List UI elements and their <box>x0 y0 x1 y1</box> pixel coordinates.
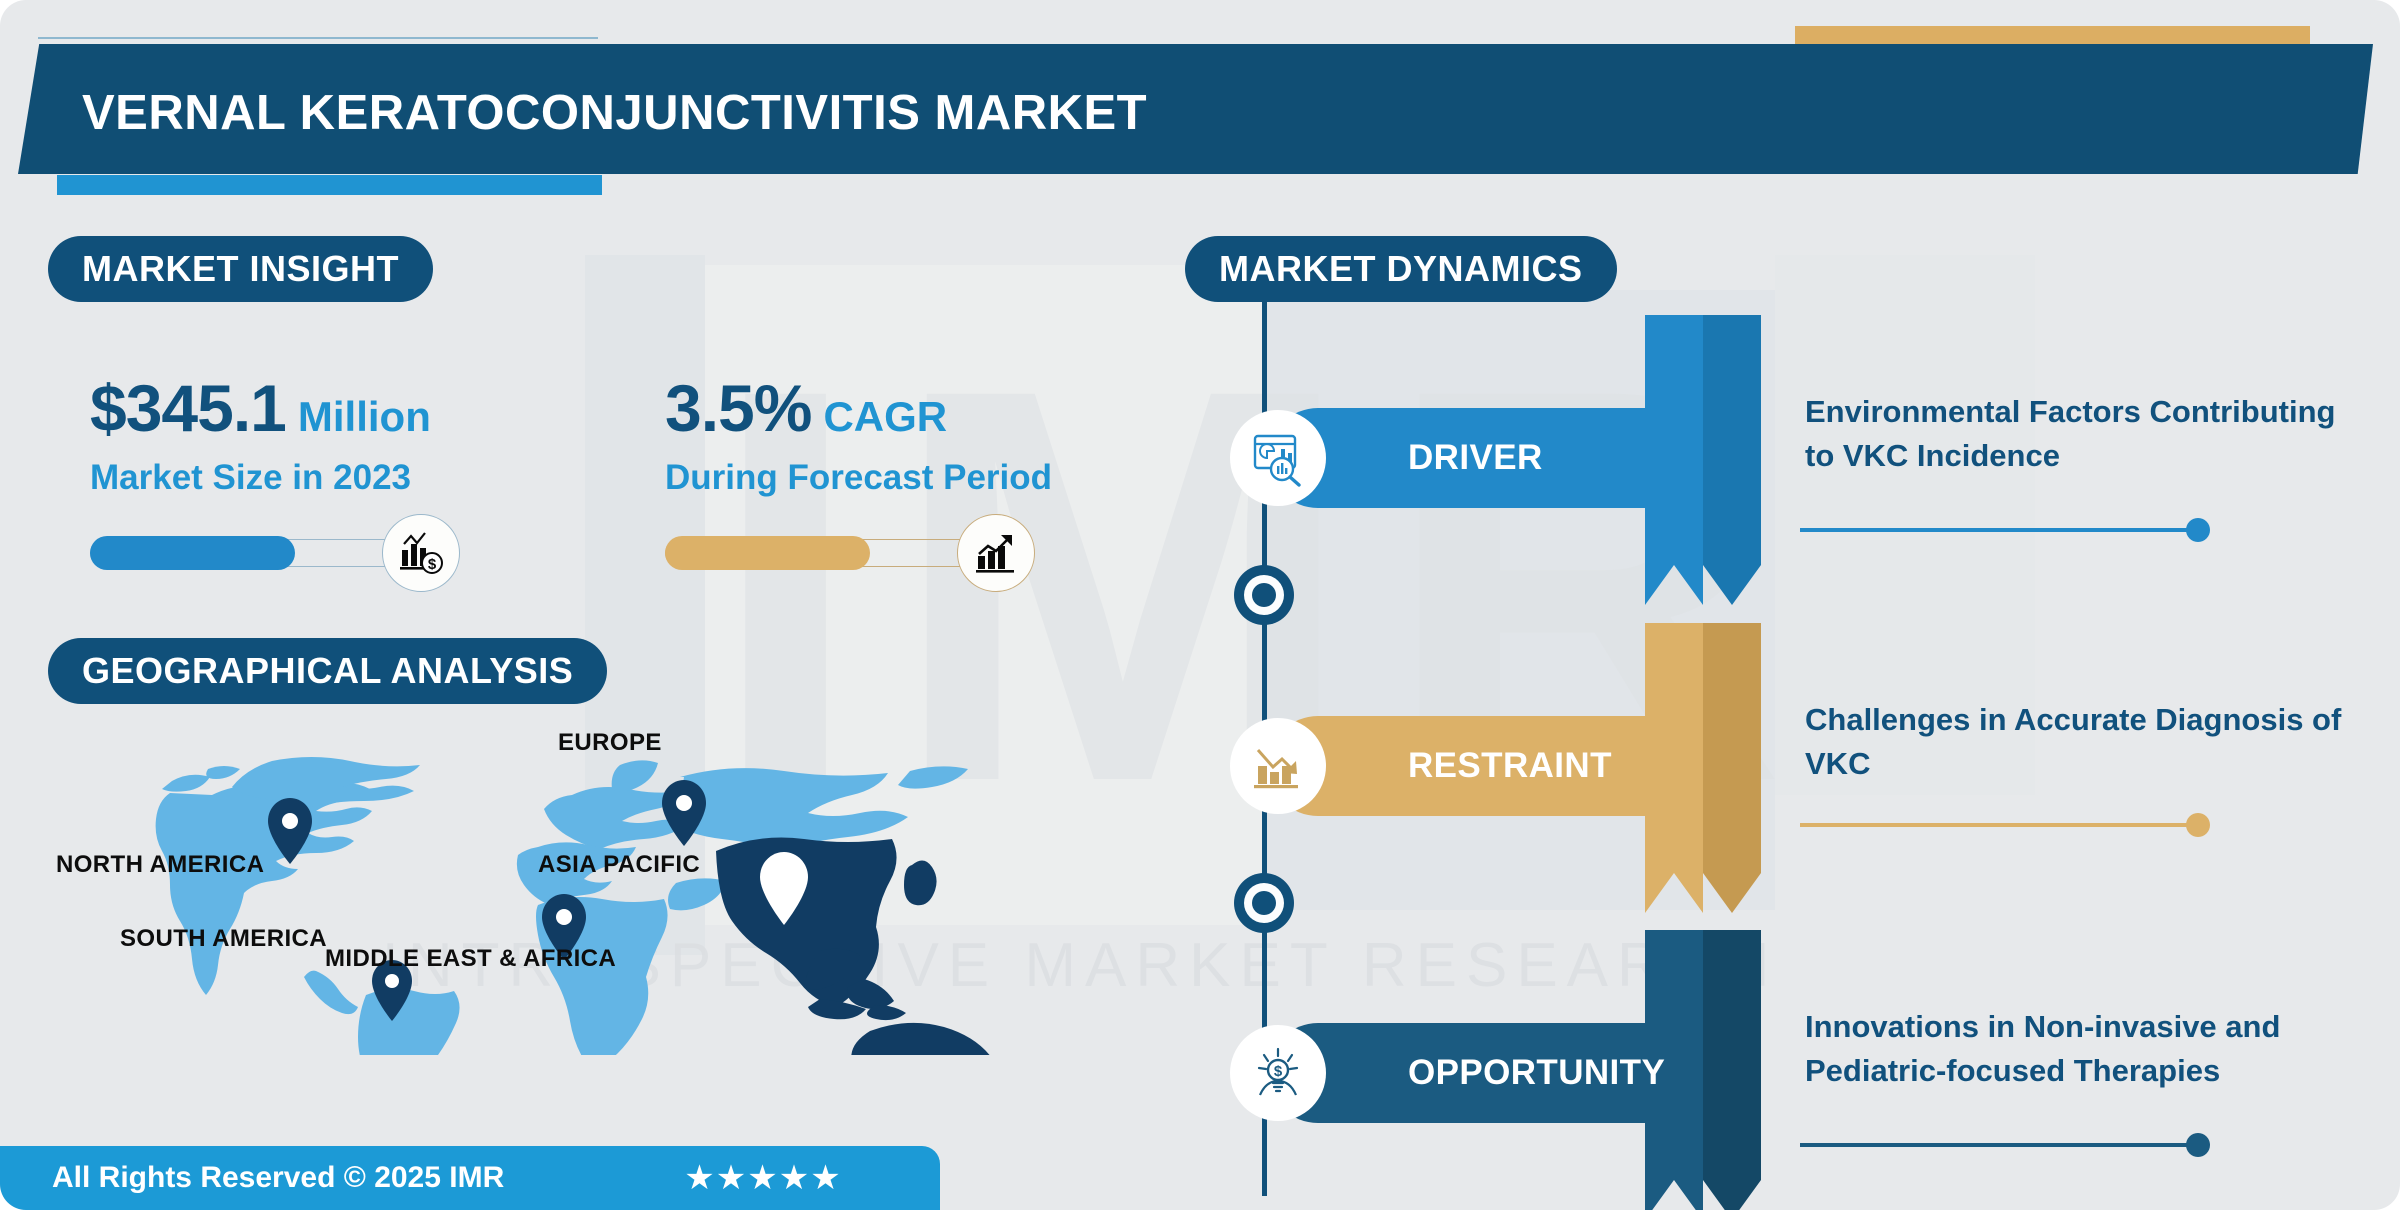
bar-chart-dollar-icon: $ <box>382 514 460 592</box>
dynamics-label-opportunity: OPPORTUNITY <box>1408 1053 1665 1093</box>
dynamics-text-driver: Environmental Factors Contributing to VK… <box>1805 390 2365 478</box>
footer-star-rating: ★★★★★ <box>684 1158 841 1198</box>
kpi-cagr-value: 3.5% <box>665 371 811 445</box>
dynamics-bar-restraint[interactable]: RESTRAINT <box>1268 716 1648 816</box>
dashboard-magnifier-icon <box>1230 410 1326 506</box>
map-label-south-america: SOUTH AMERICA <box>120 925 327 953</box>
kpi-market-size-progress: $ <box>90 525 420 585</box>
ribbon-driver <box>1645 315 1765 605</box>
dynamics-row-driver: DRIVER Environmental Factors Contributin… <box>1205 330 2385 590</box>
header-top-rule <box>38 37 598 39</box>
map-label-europe: EUROPE <box>558 729 662 757</box>
kpi-cagr-headline: 3.5%CAGR <box>665 370 1185 446</box>
world-map-svg <box>120 755 1120 1055</box>
dynamics-bar-opportunity[interactable]: $ OPPORTUNITY <box>1268 1023 1648 1123</box>
growth-chart-arrow-icon <box>957 514 1035 592</box>
map-label-middle-east-africa: MIDDLE EAST & AFRICA <box>325 945 616 973</box>
map-pin-europe <box>662 780 706 846</box>
lightbulb-dollar-icon: $ <box>1230 1025 1326 1121</box>
world-map: NORTH AMERICA SOUTH AMERICA EUROPE ASIA … <box>120 755 1120 1085</box>
dynamics-text-opportunity: Innovations in Non-invasive and Pediatri… <box>1805 1005 2365 1093</box>
footer-bar: All Rights Reserved © 2025 IMR ★★★★★ <box>0 1146 940 1210</box>
kpi-cagr-unit: CAGR <box>823 393 947 440</box>
progress-fill <box>90 536 295 570</box>
dynamics-label-restraint: RESTRAINT <box>1408 746 1612 786</box>
market-dynamics-heading-label: MARKET DYNAMICS <box>1219 248 1583 290</box>
market-insight-heading-label: MARKET INSIGHT <box>82 248 399 290</box>
dynamics-row-opportunity: $ OPPORTUNITY Innovations in Non-invasiv… <box>1205 945 2385 1205</box>
market-insight-heading: MARKET INSIGHT <box>48 236 433 302</box>
dynamics-bar-driver[interactable]: DRIVER <box>1268 408 1648 508</box>
kpi-market-size-subtitle: Market Size in 2023 <box>90 458 610 498</box>
svg-text:$: $ <box>428 556 437 573</box>
dynamics-label-driver: DRIVER <box>1408 438 1543 478</box>
dynamics-underline-restraint <box>1800 823 2200 827</box>
dynamics-row-restraint: RESTRAINT Challenges in Accurate Diagnos… <box>1205 638 2385 898</box>
svg-text:$: $ <box>1274 1063 1283 1080</box>
map-label-asia-pacific: ASIA PACIFIC <box>538 851 700 879</box>
infographic-canvas: IMR INTROSPECTIVE MARKET RESEARCH VERNAL… <box>0 0 2400 1210</box>
dynamics-underline-opportunity <box>1800 1143 2200 1147</box>
progress-fill <box>665 536 870 570</box>
header-gold-accent-bar <box>1795 26 2310 44</box>
dynamics-underline-driver <box>1800 528 2200 532</box>
kpi-market-size-unit: Million <box>298 393 431 440</box>
kpi-cagr-progress <box>665 525 995 585</box>
kpi-market-size-headline: $345.1Million <box>90 370 610 446</box>
kpi-market-size: $345.1Million Market Size in 2023 <box>90 370 610 498</box>
geographical-analysis-heading-label: GEOGRAPHICAL ANALYSIS <box>82 650 573 692</box>
kpi-cagr: 3.5%CAGR During Forecast Period <box>665 370 1185 498</box>
kpi-market-size-value: $345.1 <box>90 371 286 445</box>
dynamics-text-restraint: Challenges in Accurate Diagnosis of VKC <box>1805 698 2365 786</box>
market-dynamics-heading: MARKET DYNAMICS <box>1185 236 1617 302</box>
declining-bar-chart-icon <box>1230 718 1326 814</box>
footer-copyright: All Rights Reserved © 2025 IMR <box>52 1161 504 1195</box>
geographical-analysis-heading: GEOGRAPHICAL ANALYSIS <box>48 638 607 704</box>
kpi-cagr-subtitle: During Forecast Period <box>665 458 1185 498</box>
map-label-north-america: NORTH AMERICA <box>56 851 264 879</box>
ribbon-restraint <box>1645 623 1765 913</box>
page-title: VERNAL KERATOCONJUNCTIVITIS MARKET <box>82 85 1147 141</box>
header-blue-underbar <box>57 175 602 195</box>
